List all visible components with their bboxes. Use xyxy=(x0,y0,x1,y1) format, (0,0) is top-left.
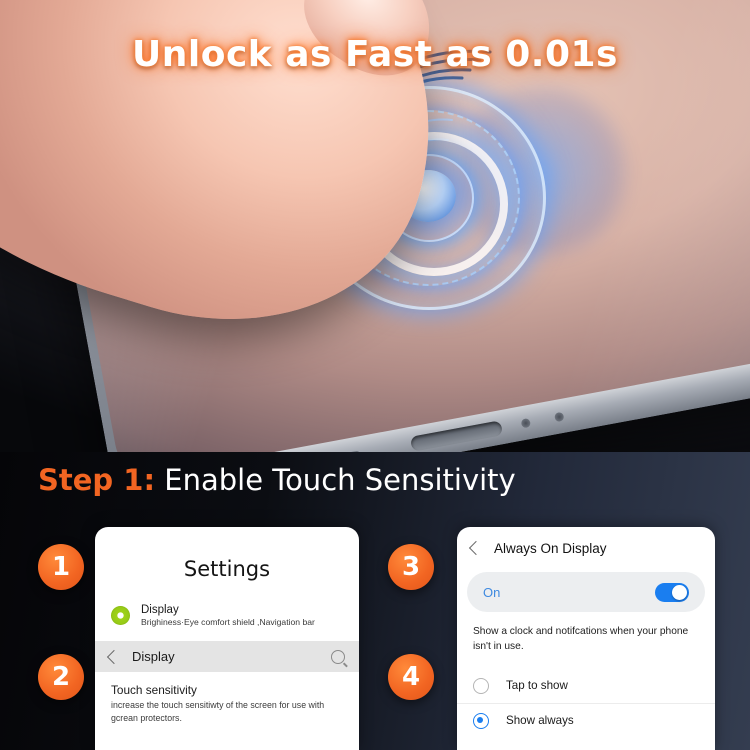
settings-row-display[interactable]: Display Brighiness·Eye comfort shield ,N… xyxy=(95,597,359,632)
display-icon xyxy=(111,606,130,625)
aod-option-tap-to-show[interactable]: Tap to show xyxy=(457,669,715,703)
back-chevron-icon[interactable] xyxy=(469,541,483,555)
hero-image: Unlock as Fast as 0.01s xyxy=(0,0,750,452)
touch-sensitivity-title: Touch sensitivity xyxy=(111,683,343,697)
usbc-port xyxy=(410,420,503,452)
aod-toggle-label: On xyxy=(483,585,500,600)
step-title-text: Enable Touch Sensitivity xyxy=(155,463,516,497)
step-title: Step 1: Enable Touch Sensitivity xyxy=(38,463,516,497)
settings-row-label: Display xyxy=(141,603,315,617)
settings-row-sublabel: Brighiness·Eye comfort shield ,Navigatio… xyxy=(141,617,315,628)
step-section: Step 1: Enable Touch Sensitivity 1 2 3 4… xyxy=(0,452,750,750)
aod-description: Show a clock and notifcations when your … xyxy=(457,612,715,655)
always-on-display-panel: Always On Display On Show a clock and no… xyxy=(457,527,715,750)
aod-option-label: Tap to show xyxy=(506,679,568,692)
radio-selected-icon[interactable] xyxy=(473,713,489,729)
display-header-title: Display xyxy=(132,649,331,664)
touch-sensitivity-description: increase the touch sensitiwty of the scr… xyxy=(111,699,343,724)
search-icon[interactable] xyxy=(331,650,345,664)
radio-icon[interactable] xyxy=(473,678,489,694)
step-badge-1: 1 xyxy=(38,544,84,590)
display-header-bar: Display xyxy=(95,641,359,672)
microphone-hole xyxy=(554,412,564,422)
touch-sensitivity-row[interactable]: Touch sensitivity increase the touch sen… xyxy=(95,672,359,724)
step-badge-3: 3 xyxy=(388,544,434,590)
step-badge-2: 2 xyxy=(38,654,84,700)
aod-toggle-row[interactable]: On xyxy=(467,572,705,612)
step-number-label: Step 1: xyxy=(38,463,155,497)
settings-title: Settings xyxy=(95,557,359,581)
aod-option-show-always[interactable]: Show always xyxy=(457,703,715,738)
aod-toggle-switch[interactable] xyxy=(655,583,689,602)
step-badge-4: 4 xyxy=(388,654,434,700)
back-chevron-icon[interactable] xyxy=(107,650,121,664)
aod-header: Always On Display xyxy=(457,531,715,565)
settings-panel: Settings Display Brighiness·Eye comfort … xyxy=(95,527,359,750)
aod-option-label: Show always xyxy=(506,714,574,727)
promo-page: Unlock as Fast as 0.01s Step 1: Enable T… xyxy=(0,0,750,750)
microphone-hole xyxy=(521,418,531,428)
aod-title: Always On Display xyxy=(494,541,607,556)
headline: Unlock as Fast as 0.01s xyxy=(0,34,750,75)
